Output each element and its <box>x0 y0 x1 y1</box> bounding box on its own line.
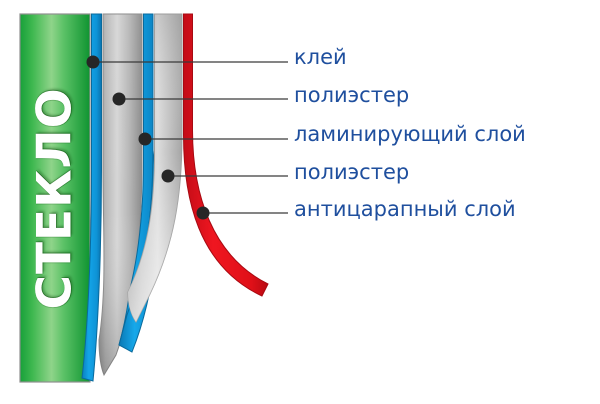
callout-label-glue: клей <box>294 47 347 68</box>
callout-label-anti-scratch: антицарапный слой <box>294 199 516 220</box>
callout-label-polyester-inner: полиэстер <box>294 85 409 106</box>
layer-glass <box>20 14 90 382</box>
callout-dot-polyester-outer <box>162 170 175 183</box>
callout-dot-laminating <box>139 133 152 146</box>
callout-label-polyester-outer: полиэстер <box>294 162 409 183</box>
diagram-canvas: СТЕКЛО клей полиэстер ламинирующий слой … <box>0 0 600 404</box>
callout-label-laminating: ламинирующий слой <box>294 124 526 145</box>
callout-dot-polyester-inner <box>113 93 126 106</box>
layer-anti-scratch <box>184 14 269 296</box>
callout-dot-anti-scratch <box>197 207 210 220</box>
callout-dot-glue <box>87 56 100 69</box>
